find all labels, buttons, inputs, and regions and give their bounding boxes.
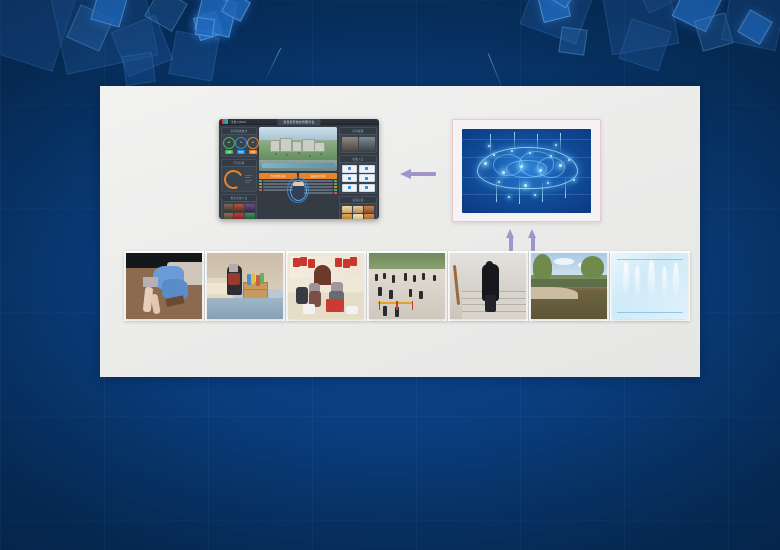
recognition-thumb-grid	[340, 204, 376, 219]
recognition-record-panel[interactable]: 识别记录	[339, 196, 377, 219]
person-leg	[150, 293, 160, 314]
pedestrian	[378, 287, 382, 296]
photo-2[interactable]	[205, 251, 285, 321]
pedestrian	[419, 291, 423, 299]
pedestrian	[383, 273, 386, 280]
scanline	[462, 139, 591, 140]
red-decoration	[300, 257, 307, 266]
bottle	[247, 274, 251, 285]
pedestrian	[422, 273, 425, 280]
photo-3-image	[288, 253, 364, 319]
camera-feed[interactable]	[342, 137, 358, 151]
building	[314, 142, 325, 152]
function-icon[interactable]	[342, 165, 358, 173]
donut-chart	[222, 167, 246, 191]
neural-node	[484, 162, 487, 165]
gauge-alarm[interactable]: 12 告警	[235, 137, 247, 154]
gauge-ring-online: 86	[223, 137, 235, 149]
data-beam	[542, 177, 543, 202]
data-beam	[537, 134, 538, 151]
photo-3[interactable]	[286, 251, 366, 321]
data-beam	[490, 134, 491, 156]
arrow-shaft	[410, 172, 436, 176]
avatar[interactable]	[245, 204, 255, 212]
watchlist-header: 重点关注人员	[222, 195, 256, 202]
barrier-post	[412, 301, 414, 310]
thumbnail[interactable]	[364, 214, 374, 220]
behavior-analysis-panel[interactable]: 行为分析	[221, 159, 257, 192]
pedestrian	[375, 274, 378, 281]
red-decoration	[343, 259, 350, 268]
red-decoration	[335, 258, 342, 267]
gauge-label-online: 在线	[225, 150, 233, 154]
neural-node	[508, 196, 510, 198]
function-icon[interactable]	[359, 165, 375, 173]
cloud	[554, 258, 574, 265]
texture-wisp	[635, 265, 640, 302]
scene-sample-photos	[124, 251, 690, 321]
tree	[275, 153, 277, 155]
barrier-post	[396, 301, 398, 310]
watchlist-avatar-grid	[222, 202, 256, 219]
gauge-ring-alarm: 12	[235, 137, 247, 149]
arrow-ai-to-dashboard	[400, 167, 436, 181]
pedestrian	[413, 275, 416, 282]
white-basin	[303, 304, 315, 313]
camera-feed[interactable]	[359, 137, 375, 151]
function-icon[interactable]	[342, 184, 358, 192]
gauge-ring-offline: 05	[247, 137, 259, 149]
photo-6[interactable]	[529, 251, 609, 321]
arrow-photos-to-ai-1	[506, 229, 515, 251]
texture-wisp	[673, 262, 679, 302]
photo-4-image	[369, 253, 445, 319]
dashboard-center-column: 今日事件记录 设备运行状态	[259, 127, 337, 219]
avatar[interactable]	[224, 204, 234, 212]
pedestrian	[409, 289, 413, 298]
status-stats-header: 实时状态统计	[222, 128, 256, 135]
face-mosaic	[143, 277, 158, 287]
neural-node	[534, 194, 536, 196]
campus-3d-view[interactable]	[259, 127, 337, 171]
person-vest	[228, 273, 240, 285]
neural-node	[524, 184, 527, 187]
slide-stage: 平台 LOGO 智慧养老监护管理平台 实时状态统计 86 在线	[0, 0, 780, 550]
building	[280, 138, 292, 151]
thumbnail[interactable]	[353, 206, 363, 213]
ai-brain-image	[462, 129, 591, 213]
pedestrian	[433, 275, 436, 282]
water-feature	[262, 163, 334, 168]
photo-7[interactable]	[610, 251, 690, 321]
camera-feed-row	[340, 135, 376, 152]
gauge-online[interactable]: 86 在线	[223, 137, 235, 154]
tree	[309, 155, 311, 157]
neural-node	[493, 154, 495, 156]
recognition-record-header: 识别记录	[340, 197, 376, 204]
watchlist-panel[interactable]: 重点关注人员	[221, 194, 257, 219]
red-decoration	[308, 259, 315, 268]
thumbnail[interactable]	[364, 206, 374, 213]
ai-brain-module[interactable]	[452, 119, 601, 222]
dashboard-title: 智慧养老监护管理平台	[278, 119, 321, 125]
avatar[interactable]	[234, 204, 244, 212]
far-bank	[531, 279, 607, 287]
neural-node	[498, 181, 500, 183]
photo-5[interactable]	[448, 251, 528, 321]
legend-line	[245, 180, 252, 181]
arrow-head-icon	[528, 229, 536, 238]
gauge-offline[interactable]: 05 离线	[247, 137, 259, 154]
face-mosaic	[229, 264, 238, 272]
arrow-photos-to-ai-2	[528, 229, 537, 251]
scanline	[462, 194, 591, 195]
avatar[interactable]	[224, 213, 234, 220]
dashboard-logo-label: 平台 LOGO	[231, 120, 246, 124]
function-entry-panel[interactable]: 功能入口	[339, 155, 377, 194]
white-basin	[346, 306, 358, 315]
willow-tree	[581, 256, 604, 278]
smart-care-dashboard[interactable]: 平台 LOGO 智慧养老监护管理平台 实时状态统计 86 在线	[219, 119, 379, 219]
data-beam	[519, 176, 520, 205]
building	[292, 141, 302, 152]
barrier-post	[379, 301, 381, 310]
photo-1-image	[126, 253, 202, 319]
avatar[interactable]	[234, 213, 244, 220]
red-decoration	[350, 257, 357, 266]
legend-line	[245, 182, 250, 183]
neural-node	[502, 171, 505, 174]
legend-line	[245, 177, 250, 178]
dresser-line	[243, 289, 266, 290]
neural-node	[573, 179, 575, 181]
behavior-donut-row	[222, 167, 256, 191]
gauge-label-alarm: 告警	[237, 150, 245, 154]
data-beam	[496, 177, 497, 202]
function-entry-header: 功能入口	[340, 156, 376, 163]
arch-doorway	[314, 265, 331, 285]
live-video-header: 实时视频	[340, 128, 376, 135]
arrow-head-icon	[506, 229, 514, 238]
floor	[207, 298, 283, 319]
pedestrian	[389, 290, 393, 299]
lakeside-path	[531, 287, 578, 299]
red-container	[326, 299, 344, 312]
photo-5-image	[450, 253, 526, 319]
donut-legend	[245, 175, 254, 184]
gauge-group: 86 在线 12 告警 05 离线	[222, 135, 256, 156]
live-video-panel[interactable]: 实时视频	[339, 127, 377, 153]
photo-4[interactable]	[367, 251, 447, 321]
function-icon-grid	[340, 163, 376, 193]
dashboard-body: 实时状态统计 86 在线 12 告警 05	[219, 125, 379, 219]
arrow-shaft	[531, 237, 535, 251]
bottle	[256, 275, 260, 286]
seated-person	[296, 287, 308, 304]
stair-step	[462, 311, 526, 319]
behavior-analysis-header: 行为分析	[222, 160, 256, 167]
willow-tree	[533, 254, 553, 280]
photo-6-image	[531, 253, 607, 319]
tree-line	[369, 253, 445, 269]
dashboard-left-column: 实时状态统计 86 在线 12 告警 05	[221, 127, 257, 219]
avatar[interactable]	[245, 213, 255, 220]
pedestrian	[404, 273, 407, 280]
gauge-label-offline: 离线	[249, 150, 257, 154]
pedestrian	[392, 275, 395, 282]
red-decoration	[293, 258, 300, 267]
legend-line	[245, 175, 252, 176]
neural-node	[555, 144, 557, 146]
thumbnail[interactable]	[342, 214, 352, 220]
pedestrian	[383, 306, 388, 316]
status-stats-panel[interactable]: 实时状态统计 86 在线 12 告警 05	[221, 127, 257, 157]
building	[302, 139, 315, 152]
data-beam	[560, 133, 561, 153]
target-person-widget[interactable]	[287, 177, 309, 203]
arrow-head-icon	[400, 169, 411, 179]
person-ring-inner	[290, 180, 307, 201]
handrail	[452, 265, 459, 305]
dashboard-header: 平台 LOGO 智慧养老监护管理平台	[219, 119, 379, 125]
photo-2-image	[207, 253, 283, 319]
function-icon[interactable]	[359, 174, 375, 182]
arrow-shaft	[509, 237, 513, 251]
person-legs	[485, 295, 496, 312]
building	[270, 140, 281, 152]
platform-logo-icon	[222, 119, 228, 124]
photo-1[interactable]	[124, 251, 204, 321]
dashboard-tables: 今日事件记录 设备运行状态	[259, 173, 337, 219]
content-card: 平台 LOGO 智慧养老监护管理平台 实时状态统计 86 在线	[100, 86, 700, 377]
tree	[320, 153, 322, 155]
neural-node	[568, 159, 570, 161]
brain-fold	[537, 157, 565, 177]
sky-layer	[259, 127, 337, 140]
neural-node	[559, 164, 562, 167]
dashboard-right-column: 实时视频 功能入口	[339, 127, 377, 219]
bottle	[251, 273, 255, 284]
thumbnail[interactable]	[353, 214, 363, 220]
tree	[286, 154, 288, 156]
function-icon[interactable]	[342, 174, 358, 182]
data-beam	[565, 175, 566, 199]
function-icon[interactable]	[359, 184, 375, 192]
thumbnail[interactable]	[342, 206, 352, 213]
photo-7-image	[612, 253, 688, 319]
tree	[298, 152, 300, 154]
texture-wisp	[623, 261, 629, 302]
bottle	[260, 273, 264, 284]
data-beam	[514, 132, 515, 150]
